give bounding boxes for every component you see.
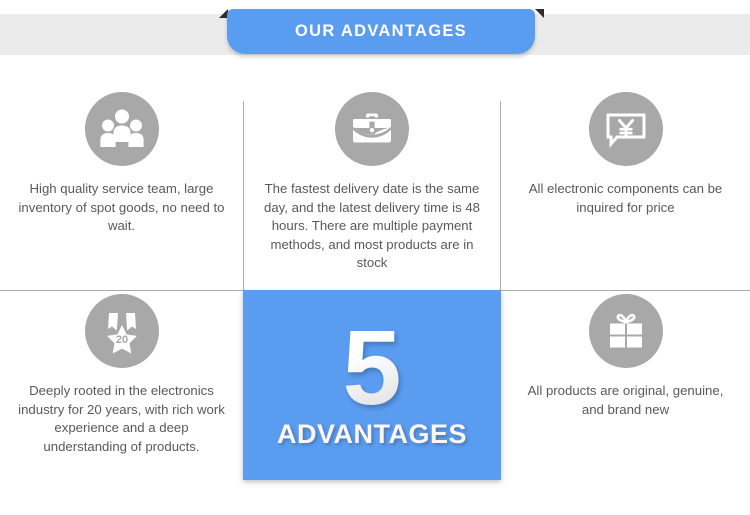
advantage-text-4: Deeply rooted in the electronics industr… (0, 382, 243, 456)
header: OUR ADVANTAGES (0, 0, 750, 72)
advantage-text-5: All products are original, genuine, and … (501, 382, 750, 419)
feature-tile: 5 ADVANTAGES (243, 290, 501, 480)
advantage-cell-1: High quality service team, large invento… (0, 92, 243, 282)
advantage-cell-2: The fastest delivery date is the same da… (244, 92, 500, 282)
award-medal-icon: 20 (85, 294, 159, 368)
group-people-icon (85, 92, 159, 166)
gift-box-icon (589, 294, 663, 368)
advantage-cell-5: All products are original, genuine, and … (501, 294, 750, 494)
page-title: OUR ADVANTAGES (227, 9, 535, 54)
corner-notch-right-icon (535, 9, 544, 18)
advantage-text-2: The fastest delivery date is the same da… (244, 180, 500, 273)
award-badge-year: 20 (115, 334, 127, 346)
feature-number: 5 (343, 320, 402, 418)
advantage-text-3: All electronic components can be inquire… (501, 180, 750, 217)
advantage-cell-4: 20 Deeply rooted in the electronics indu… (0, 294, 243, 494)
advantage-text-1: High quality service team, large invento… (0, 180, 243, 236)
price-inquiry-speech-bubble-icon (589, 92, 663, 166)
briefcase-icon (335, 92, 409, 166)
advantage-cell-3: All electronic components can be inquire… (501, 92, 750, 282)
header-ribbon: OUR ADVANTAGES (227, 9, 535, 54)
